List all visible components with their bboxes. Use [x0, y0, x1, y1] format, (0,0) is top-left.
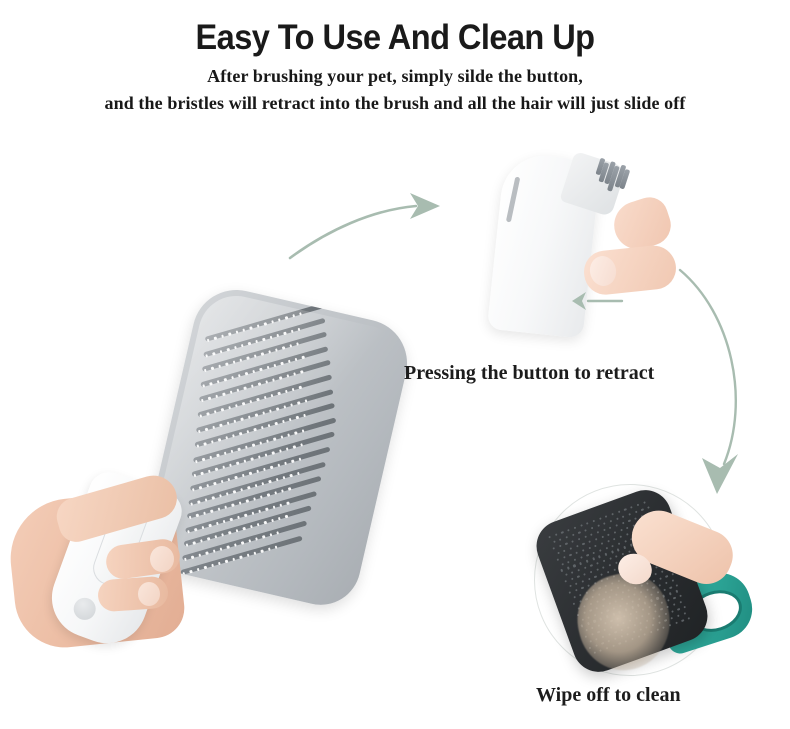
- bristle-hole: [684, 606, 687, 609]
- bristle-hole: [582, 580, 585, 583]
- bristle-hole: [586, 560, 589, 563]
- bristle-hole: [595, 538, 598, 541]
- bristle-hole: [671, 610, 674, 613]
- bristle-hole: [594, 576, 597, 579]
- bristle-hole: [574, 527, 577, 530]
- bristle-hole: [597, 524, 600, 527]
- bristle-hole: [600, 573, 603, 576]
- bristle-hole: [675, 584, 678, 587]
- bristle-pin-tips: [201, 361, 333, 403]
- bristle-row: [183, 506, 312, 547]
- bristle-hole: [588, 578, 591, 581]
- press-button-photo: [486, 152, 696, 332]
- bristle-hole: [647, 506, 650, 509]
- bristle-hole: [573, 602, 576, 605]
- bristle-hole: [579, 562, 582, 565]
- bristle-pin-tips: [199, 376, 334, 419]
- bristle-hole: [609, 564, 612, 567]
- bristle-hole: [602, 566, 605, 569]
- bristle-hole: [618, 542, 621, 545]
- bristle-hole: [616, 517, 619, 520]
- bristle-field: [169, 309, 385, 585]
- bristle-hole: [603, 522, 606, 525]
- bristle-hole: [596, 569, 599, 572]
- bristle-hole: [555, 533, 558, 536]
- bristle-hole: [571, 540, 574, 543]
- bristle-row: [193, 417, 337, 463]
- bristle-hole: [679, 601, 682, 604]
- bristle-hole: [569, 553, 572, 556]
- bristle-hole: [567, 529, 570, 532]
- bristle-hole: [575, 551, 578, 554]
- bristle-hole: [615, 562, 618, 565]
- bristle-hole: [576, 545, 579, 548]
- bristle-hole: [603, 560, 606, 563]
- bristle-pin-tips: [188, 477, 323, 520]
- bristle-hole: [667, 599, 670, 602]
- bristle-hole: [565, 574, 568, 577]
- bristle-hole: [582, 542, 585, 545]
- bristle-hole: [590, 533, 593, 536]
- bristle-hole: [573, 564, 576, 567]
- bristle-hole: [605, 547, 608, 550]
- bristle-hole: [567, 567, 570, 570]
- bristle-hole: [609, 558, 612, 561]
- bristle-hole: [588, 546, 591, 549]
- bristle-hole: [579, 594, 582, 597]
- bristle-hole: [567, 560, 570, 563]
- bristle-hole: [677, 615, 680, 618]
- bristle-row: [199, 360, 331, 402]
- bristle-hole: [628, 519, 631, 522]
- bristle-hole: [641, 508, 644, 511]
- bristle-row: [197, 374, 332, 417]
- bristle-hole: [592, 551, 595, 554]
- bristle-hole: [569, 591, 572, 594]
- bristle-hole: [599, 549, 602, 552]
- bristle-hole: [673, 603, 676, 606]
- bristle-pin-tips: [198, 390, 336, 434]
- bristle-pin-tips: [205, 319, 327, 359]
- bristle-pin-tips: [195, 418, 339, 464]
- bristle-hole: [581, 587, 584, 590]
- bristle-hole: [600, 542, 603, 545]
- bristle-hole: [607, 533, 610, 536]
- bristle-hole: [580, 524, 583, 527]
- bristle-hole: [596, 562, 599, 565]
- bristle-hole: [607, 571, 610, 574]
- bristle-hole: [571, 578, 574, 581]
- bristle-hole: [563, 556, 566, 559]
- bristle-hole: [598, 555, 601, 558]
- bristle-hole: [552, 547, 555, 550]
- bristle-hole: [592, 520, 595, 523]
- bristle-row: [203, 317, 325, 357]
- bristle-hole: [580, 556, 583, 559]
- bristle-row: [188, 461, 326, 505]
- bristle-hole: [565, 542, 568, 545]
- bristle-hole: [613, 537, 616, 540]
- bristle-hole: [611, 513, 614, 516]
- bristle-hole: [605, 515, 608, 518]
- bristle-hole: [634, 517, 637, 520]
- bristle-hole: [588, 540, 591, 543]
- bristle-hole: [677, 608, 680, 611]
- bristle-hole: [615, 524, 618, 527]
- bristle-row: [180, 535, 302, 575]
- caption-pressing-button: Pressing the button to retract: [404, 362, 654, 385]
- bristle-hole: [611, 551, 614, 554]
- bristle-hole: [635, 511, 638, 514]
- bristle-pin-tips: [202, 347, 331, 388]
- bristle-hole: [586, 553, 589, 556]
- bristle-pin-tips: [207, 304, 326, 343]
- bristle-hole: [671, 617, 674, 620]
- bristle-pin-tips: [182, 536, 304, 576]
- bristle-pin-tips: [193, 433, 337, 479]
- bristle-hole: [622, 522, 625, 525]
- bristle-row: [200, 346, 329, 387]
- bristle-hole: [675, 590, 678, 593]
- bristle-hole: [661, 570, 664, 573]
- fingernail-1: [150, 546, 174, 572]
- bristle-hole: [592, 558, 595, 561]
- bristle-hole: [591, 527, 594, 530]
- handle-end-dot: [71, 595, 99, 623]
- bristle-hole: [582, 549, 585, 552]
- bristle-hole: [605, 553, 608, 556]
- bristle-hole: [663, 588, 666, 591]
- bristle-hole: [626, 533, 629, 536]
- bristle-hole: [590, 571, 593, 574]
- bristle-hole: [628, 513, 631, 516]
- bristle-hole: [584, 535, 587, 538]
- bristle-hole: [636, 504, 639, 507]
- bristle-row: [191, 432, 335, 478]
- infographic-page: Easy To Use And Clean Up After brushing …: [0, 0, 790, 729]
- bristle-pin-tips: [192, 448, 333, 493]
- bristle-hole: [578, 538, 581, 541]
- bristle-hole: [556, 558, 559, 561]
- bristle-hole: [559, 538, 562, 541]
- bristle-row: [187, 476, 322, 519]
- bristle-hole: [613, 531, 616, 534]
- bristle-hole: [643, 501, 646, 504]
- bristle-hole: [569, 585, 572, 588]
- bristle-hole: [623, 546, 626, 549]
- bristle-hole: [577, 576, 580, 579]
- bristle-hole: [564, 580, 567, 583]
- bristle-hole: [553, 540, 556, 543]
- bristle-hole: [675, 622, 678, 625]
- bristle-hole: [565, 536, 568, 539]
- bristle-hole: [609, 526, 612, 529]
- bristle-hole: [654, 573, 657, 576]
- bristle-hole: [594, 544, 597, 547]
- bristle-hole: [688, 617, 691, 620]
- bristle-pin-tips: [187, 492, 319, 534]
- bristle-hole: [669, 586, 672, 589]
- bristle-hole: [559, 545, 562, 548]
- bristle-hole: [620, 529, 623, 532]
- bristle-hole: [658, 584, 661, 587]
- bristle-hole: [590, 565, 593, 568]
- bristle-hole: [659, 577, 662, 580]
- bristle-hole: [596, 531, 599, 534]
- bristle-hole: [575, 589, 578, 592]
- bristle-hole: [569, 547, 572, 550]
- bristle-row: [194, 403, 335, 448]
- fingernail-2: [138, 582, 160, 606]
- bristle-hole: [619, 535, 622, 538]
- bristle-hole: [665, 575, 668, 578]
- arrow-main-to-press-icon: [288, 186, 448, 266]
- bristle-hole: [560, 569, 563, 572]
- bristle-hole: [563, 549, 566, 552]
- bristle-hole: [586, 522, 589, 525]
- bristle-hole: [571, 571, 574, 574]
- subtitle-line-2: and the bristles will retract into the b…: [0, 89, 790, 116]
- bristle-hole: [584, 567, 587, 570]
- bristle-hole: [624, 540, 627, 543]
- bristle-hole: [681, 619, 684, 622]
- bristle-hole: [583, 573, 586, 576]
- bristle-pin-tips: [184, 522, 310, 562]
- bristle-row: [202, 332, 328, 372]
- bristle-hole: [624, 508, 627, 511]
- bristle-hole: [561, 531, 564, 534]
- bristle-hole: [630, 506, 633, 509]
- bristle-hole: [615, 555, 618, 558]
- bristle-hole: [603, 529, 606, 532]
- bristle-hole: [609, 520, 612, 523]
- bristle-hole: [680, 595, 683, 598]
- bristle-pin-tips: [185, 507, 314, 548]
- bristle-hole: [617, 548, 620, 551]
- bristle-hole: [575, 582, 578, 585]
- subtitle-line-1: After brushing your pet, simply silde th…: [0, 58, 790, 89]
- bristle-hole: [573, 596, 576, 599]
- caption-wipe-off: Wipe off to clean: [536, 684, 681, 707]
- bristle-hole: [607, 540, 610, 543]
- bristle-hole: [673, 597, 676, 600]
- bristle-hole: [683, 612, 686, 615]
- bristle-row: [185, 491, 317, 533]
- bristle-hole: [578, 569, 581, 572]
- bristle-hole: [618, 511, 621, 514]
- bristle-hole: [557, 551, 560, 554]
- bristle-hole: [548, 536, 551, 539]
- bristle-hole: [613, 569, 616, 572]
- bristle-hole: [572, 534, 575, 537]
- bristle-row: [182, 520, 308, 560]
- bristle-pin-tips: [196, 404, 337, 449]
- page-title: Easy To Use And Clean Up: [28, 0, 763, 58]
- wipe-clean-photo: [518, 482, 768, 680]
- bristle-pin-tips: [190, 462, 328, 506]
- bristle-hole: [573, 558, 576, 561]
- main-brush-photo: [10, 300, 420, 645]
- bristle-hole: [669, 592, 672, 595]
- bristle-hole: [578, 531, 581, 534]
- bristle-hole: [584, 529, 587, 532]
- bristle-hole: [622, 515, 625, 518]
- bristle-hole: [671, 579, 674, 582]
- handle-seam-line: [506, 177, 520, 223]
- bristle-row: [190, 446, 331, 491]
- bristle-hole: [561, 563, 564, 566]
- bristle-pin-tips: [204, 333, 330, 373]
- bristle-row: [196, 389, 334, 433]
- bristle-hole: [626, 526, 629, 529]
- bristle-hole: [601, 535, 604, 538]
- bristle-hole: [611, 544, 614, 547]
- bristle-hole: [599, 517, 602, 520]
- bristle-hole: [665, 581, 668, 584]
- header-block: Easy To Use And Clean Up After brushing …: [0, 0, 790, 116]
